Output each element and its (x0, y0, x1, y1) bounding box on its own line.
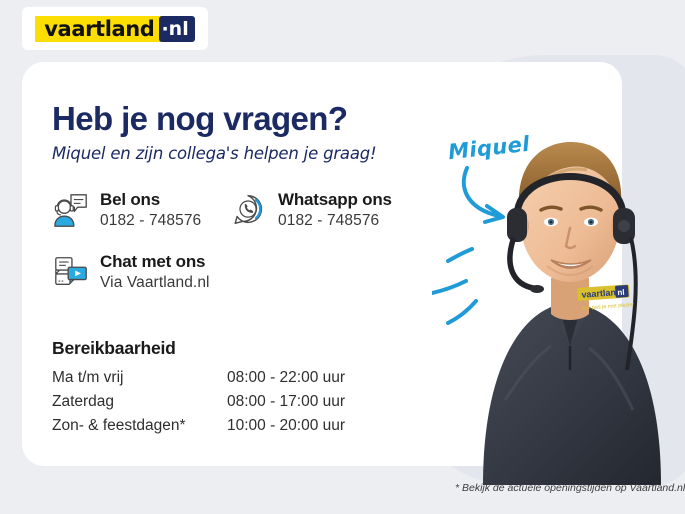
contact-call[interactable]: Bel ons 0182 - 748576 (52, 190, 201, 232)
availability-day: Zaterdag (52, 390, 227, 414)
logo-tld: ·nl (159, 16, 194, 42)
contact-whatsapp[interactable]: Whatsapp ons 0182 - 748576 (230, 190, 392, 232)
contact-call-title: Bel ons (100, 190, 201, 210)
contact-chat-text: Chat met ons Via Vaartland.nl (100, 252, 210, 294)
contact-chat-link[interactable]: Via Vaartland.nl (100, 272, 210, 294)
table-row: Ma t/m vrij 08:00 - 22:00 uur (52, 366, 345, 390)
contact-whatsapp-number[interactable]: 0182 - 748576 (278, 210, 392, 232)
availability-hours: 08:00 - 17:00 uur (227, 390, 345, 414)
logo-wordmark: vaartland (35, 16, 161, 42)
svg-text:nl: nl (617, 288, 625, 297)
promo-banner: vaartland ·nl Heb je nog vragen? Miquel … (0, 0, 685, 514)
contact-whatsapp-text: Whatsapp ons 0182 - 748576 (278, 190, 392, 232)
availability-day: Zon- & feestdagen* (52, 414, 227, 438)
page-subtitle: Miquel en zijn collega's helpen je graag… (52, 144, 376, 163)
availability-day: Ma t/m vrij (52, 366, 227, 390)
support-agent-icon (52, 190, 90, 230)
chat-windows-icon (52, 252, 90, 292)
logo-inner: vaartland ·nl (35, 16, 194, 42)
spark-lines-icon (432, 245, 512, 335)
availability-table: Ma t/m vrij 08:00 - 22:00 uur Zaterdag 0… (52, 366, 345, 438)
availability-hours: 08:00 - 22:00 uur (227, 366, 345, 390)
contact-call-text: Bel ons 0182 - 748576 (100, 190, 201, 232)
svg-text:dan pas je met plezier: dan pas je met plezier (581, 302, 634, 312)
contact-chat[interactable]: Chat met ons Via Vaartland.nl (52, 252, 210, 294)
contact-chat-title: Chat met ons (100, 252, 210, 272)
availability-title: Bereikbaarheid (52, 338, 176, 359)
footnote-text: * Bekijk de actuele openingstijden op Va… (455, 482, 685, 494)
table-row: Zaterdag 08:00 - 17:00 uur (52, 390, 345, 414)
contact-call-number[interactable]: 0182 - 748576 (100, 210, 201, 232)
whatsapp-icon (230, 190, 268, 230)
curved-arrow-icon (455, 160, 545, 230)
contact-whatsapp-title: Whatsapp ons (278, 190, 392, 210)
availability-hours: 10:00 - 20:00 uur (227, 414, 345, 438)
page-title: Heb je nog vragen? (52, 100, 347, 138)
vaartland-logo[interactable]: vaartland ·nl (22, 7, 208, 50)
table-row: Zon- & feestdagen* 10:00 - 20:00 uur (52, 414, 345, 438)
